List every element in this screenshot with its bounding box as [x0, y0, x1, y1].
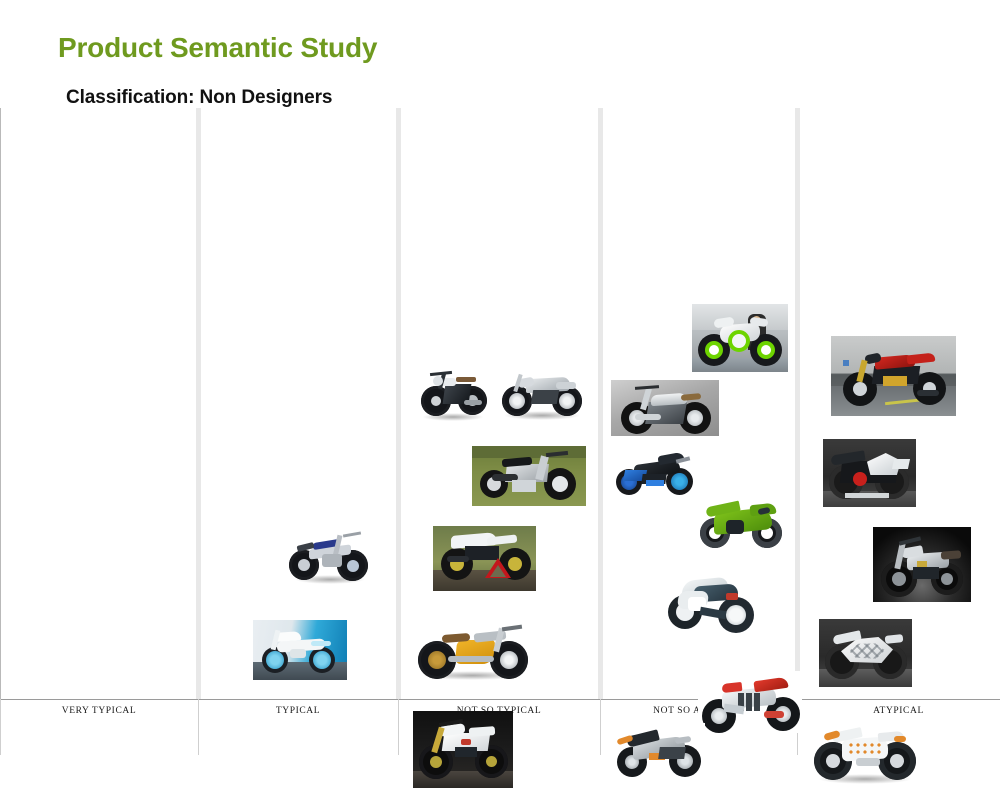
- bike-photo-dark-cafe-racer-studio[interactable]: [873, 527, 971, 602]
- bike-photo-white-blue-dirt-bike[interactable]: [283, 525, 375, 587]
- column-divider-2: [396, 108, 401, 699]
- classification-grid: VERY TYPICAL TYPICAL NOT SO TYPICAL NOT …: [0, 108, 1000, 750]
- column-divider-4: [795, 108, 800, 699]
- bike-photo-green-hubless-showfloor-concept[interactable]: [692, 304, 788, 372]
- column-label-very-typical: VERY TYPICAL: [0, 706, 198, 716]
- bike-photo-white-black-red-dot-concept[interactable]: [823, 439, 916, 507]
- bike-photo-red-white-track-concept[interactable]: [698, 671, 802, 733]
- bike-photo-green-monocoque-concept[interactable]: [696, 496, 784, 548]
- axis-baseline: [0, 699, 1000, 700]
- column-divider-1: [196, 108, 201, 699]
- bike-photo-white-faceted-lattice-concept[interactable]: [819, 619, 912, 687]
- column-label-atypical: ATYPICAL: [797, 706, 1000, 716]
- bike-photo-white-bike-red-triangle-frame[interactable]: [433, 526, 536, 591]
- column-divider-3: [598, 108, 603, 699]
- bike-photo-red-black-naked-garage[interactable]: [831, 336, 956, 416]
- slide-canvas: Product Semantic Study Classification: N…: [0, 0, 1000, 750]
- bike-photo-silver-naked-sport-concept[interactable]: [496, 364, 588, 422]
- bike-photo-silver-orange-sport-concept[interactable]: [615, 723, 705, 781]
- bike-photo-white-cyan-concept-commuter[interactable]: [253, 620, 347, 680]
- bike-photo-orange-white-perforated-concept[interactable]: [810, 716, 922, 786]
- bike-photo-blue-black-futuristic-sportbike[interactable]: [612, 450, 696, 496]
- page-title: Product Semantic Study: [58, 32, 377, 64]
- classification-subtitle: Classification: Non Designers: [66, 87, 332, 109]
- bike-photo-yellow-tank-cafe-concept[interactable]: [412, 616, 532, 682]
- bike-photo-silver-streetfighter-on-grass[interactable]: [472, 446, 586, 506]
- bike-photo-black-electric-cafe-racer[interactable]: [418, 360, 490, 424]
- grid-left-edge: [0, 108, 1, 699]
- bike-photo-teal-white-hubless-concept[interactable]: [664, 571, 756, 637]
- bike-photo-silver-cruiser-concept[interactable]: [611, 380, 719, 436]
- column-label-typical: TYPICAL: [198, 706, 398, 716]
